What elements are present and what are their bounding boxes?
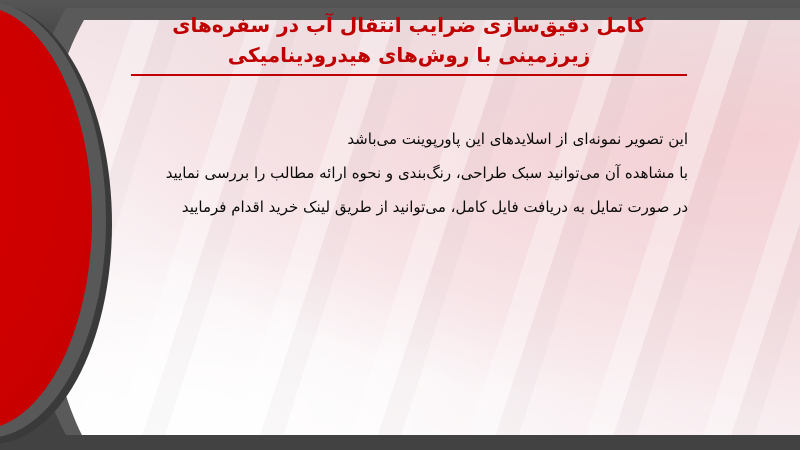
body-line-1: این تصویر نمونه‌ای از اسلایدهای این پاور…: [128, 122, 688, 156]
slide-content-panel: [40, 20, 800, 439]
body-line-2: با مشاهده آن می‌توانید سبک طراحی، رنگ‌بن…: [128, 156, 688, 190]
slide-title: کامل دقیق‌سازی ضرایب انتقال آب در سفره‌ه…: [100, 10, 718, 76]
presentation-slide: کامل دقیق‌سازی ضرایب انتقال آب در سفره‌ه…: [0, 0, 800, 450]
title-underline-rule: [131, 74, 687, 76]
slide-body: این تصویر نمونه‌ای از اسلایدهای این پاور…: [128, 122, 688, 224]
slide-title-line-2: زیرزمینی با روش‌های هیدرودینامیکی: [100, 40, 718, 70]
body-line-3: در صورت تمایل به دریافت فایل کامل، می‌تو…: [128, 190, 688, 224]
slide-title-line-1: کامل دقیق‌سازی ضرایب انتقال آب در سفره‌ه…: [100, 10, 718, 40]
